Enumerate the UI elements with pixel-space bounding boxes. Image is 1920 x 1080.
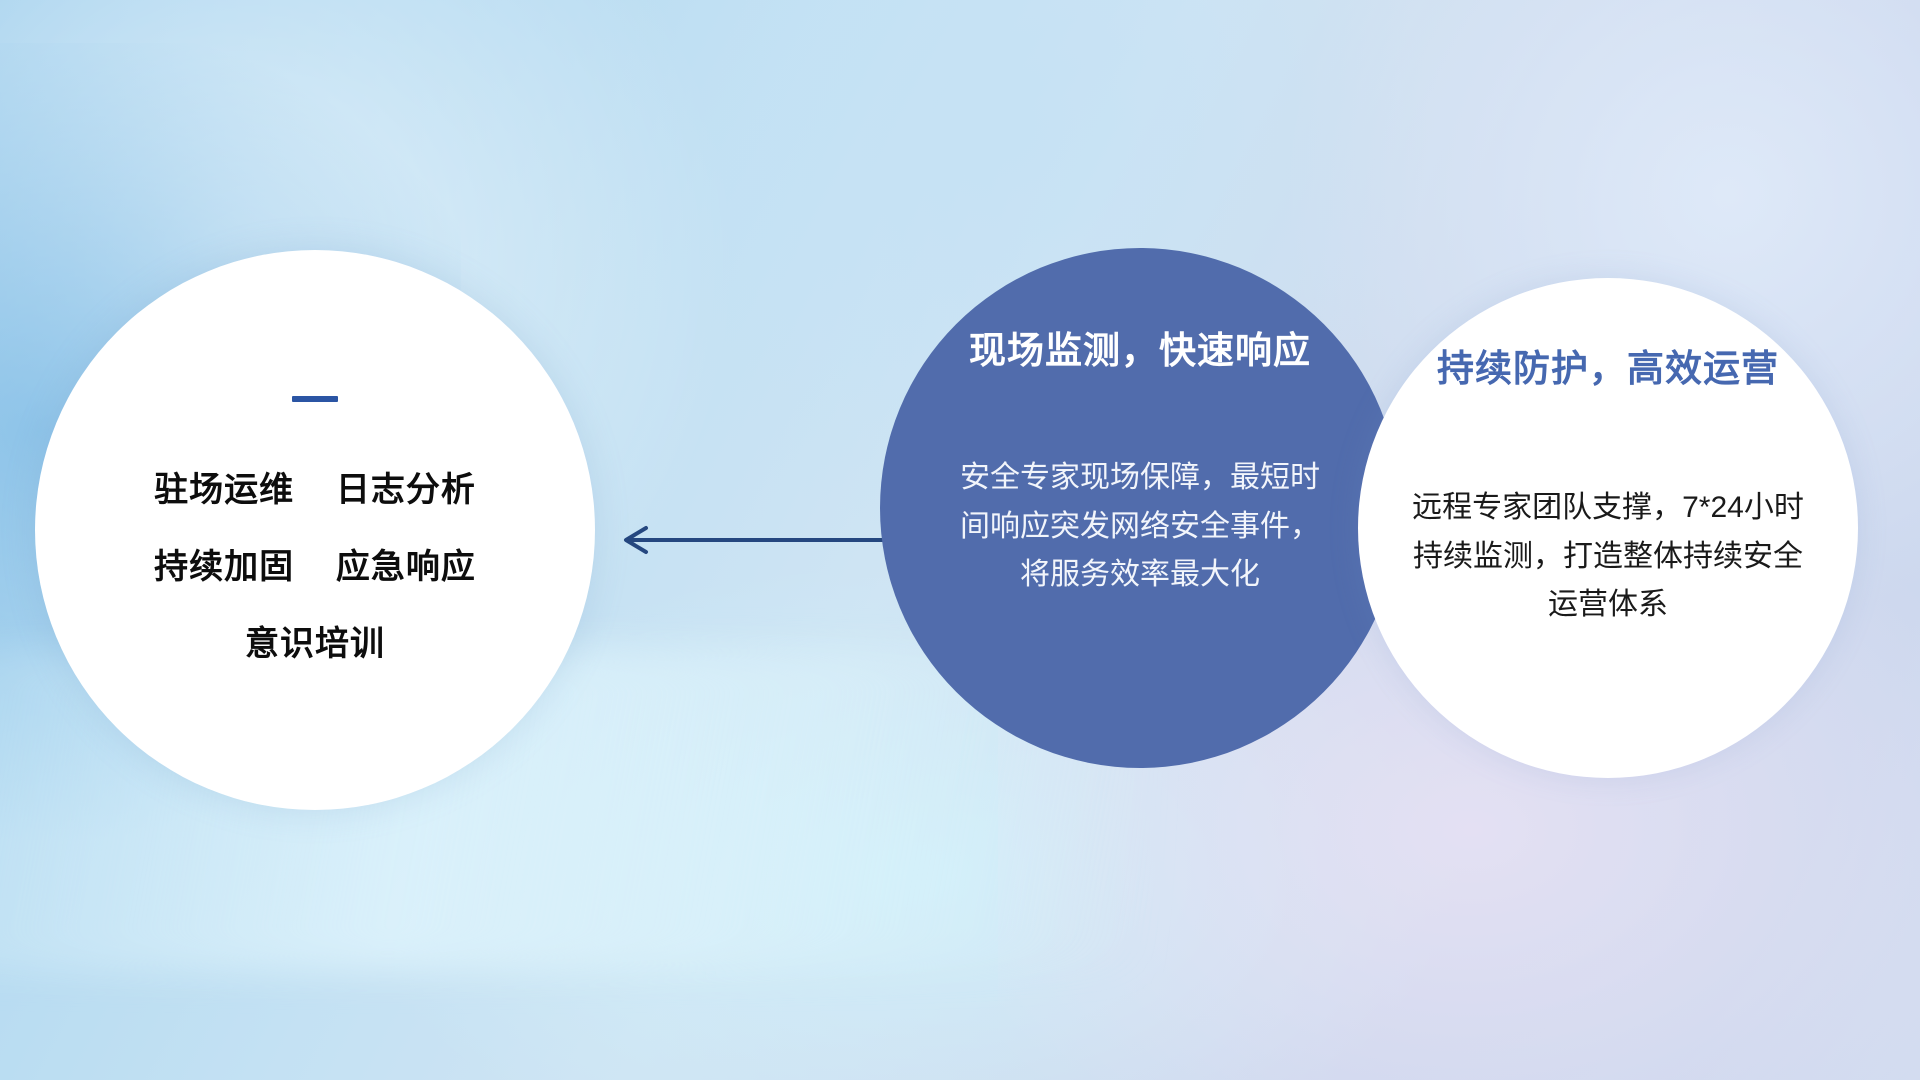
capability-circle-middle[interactable]: 现场监测，快速响应 安全专家现场保障，最短时间响应突发网络安全事件，将服务效率最… [880,248,1400,768]
capability-line-2: 持续加固 应急响应 [154,539,476,588]
capability-circle-left[interactable]: 驻场运维 日志分析 持续加固 应急响应 意识培训 [35,250,595,810]
capability-circle-right[interactable]: 持续防护，高效运营 远程专家团队支撑，7*24小时持续监测，打造整体持续安全运营… [1358,278,1858,778]
right-circle-title: 持续防护，高效运营 [1437,338,1779,392]
diagram-canvas: 驻场运维 日志分析 持续加固 应急响应 意识培训 现场监测，快速响应 安全专家现… [0,0,1920,1080]
divider-dash [292,396,338,402]
middle-circle-body: 安全专家现场保障，最短时间响应突发网络安全事件，将服务效率最大化 [950,454,1330,600]
capability-line-1: 驻场运维 日志分析 [154,462,476,511]
capability-list: 驻场运维 日志分析 持续加固 应急响应 意识培训 [154,462,476,665]
right-circle-body: 远程专家团队支撑，7*24小时持续监测，打造整体持续安全运营体系 [1402,484,1814,630]
capability-line-3: 意识培训 [245,616,385,665]
capability-circle-right-content: 持续防护，高效运营 远程专家团队支撑，7*24小时持续监测，打造整体持续安全运营… [1358,278,1858,778]
connector-arrow-left [612,520,902,560]
middle-circle-title: 现场监测，快速响应 [969,320,1311,374]
capability-circle-middle-content: 现场监测，快速响应 安全专家现场保障，最短时间响应突发网络安全事件，将服务效率最… [880,248,1400,768]
arrow-left-icon [612,520,902,560]
capability-circle-left-content: 驻场运维 日志分析 持续加固 应急响应 意识培训 [35,250,595,810]
